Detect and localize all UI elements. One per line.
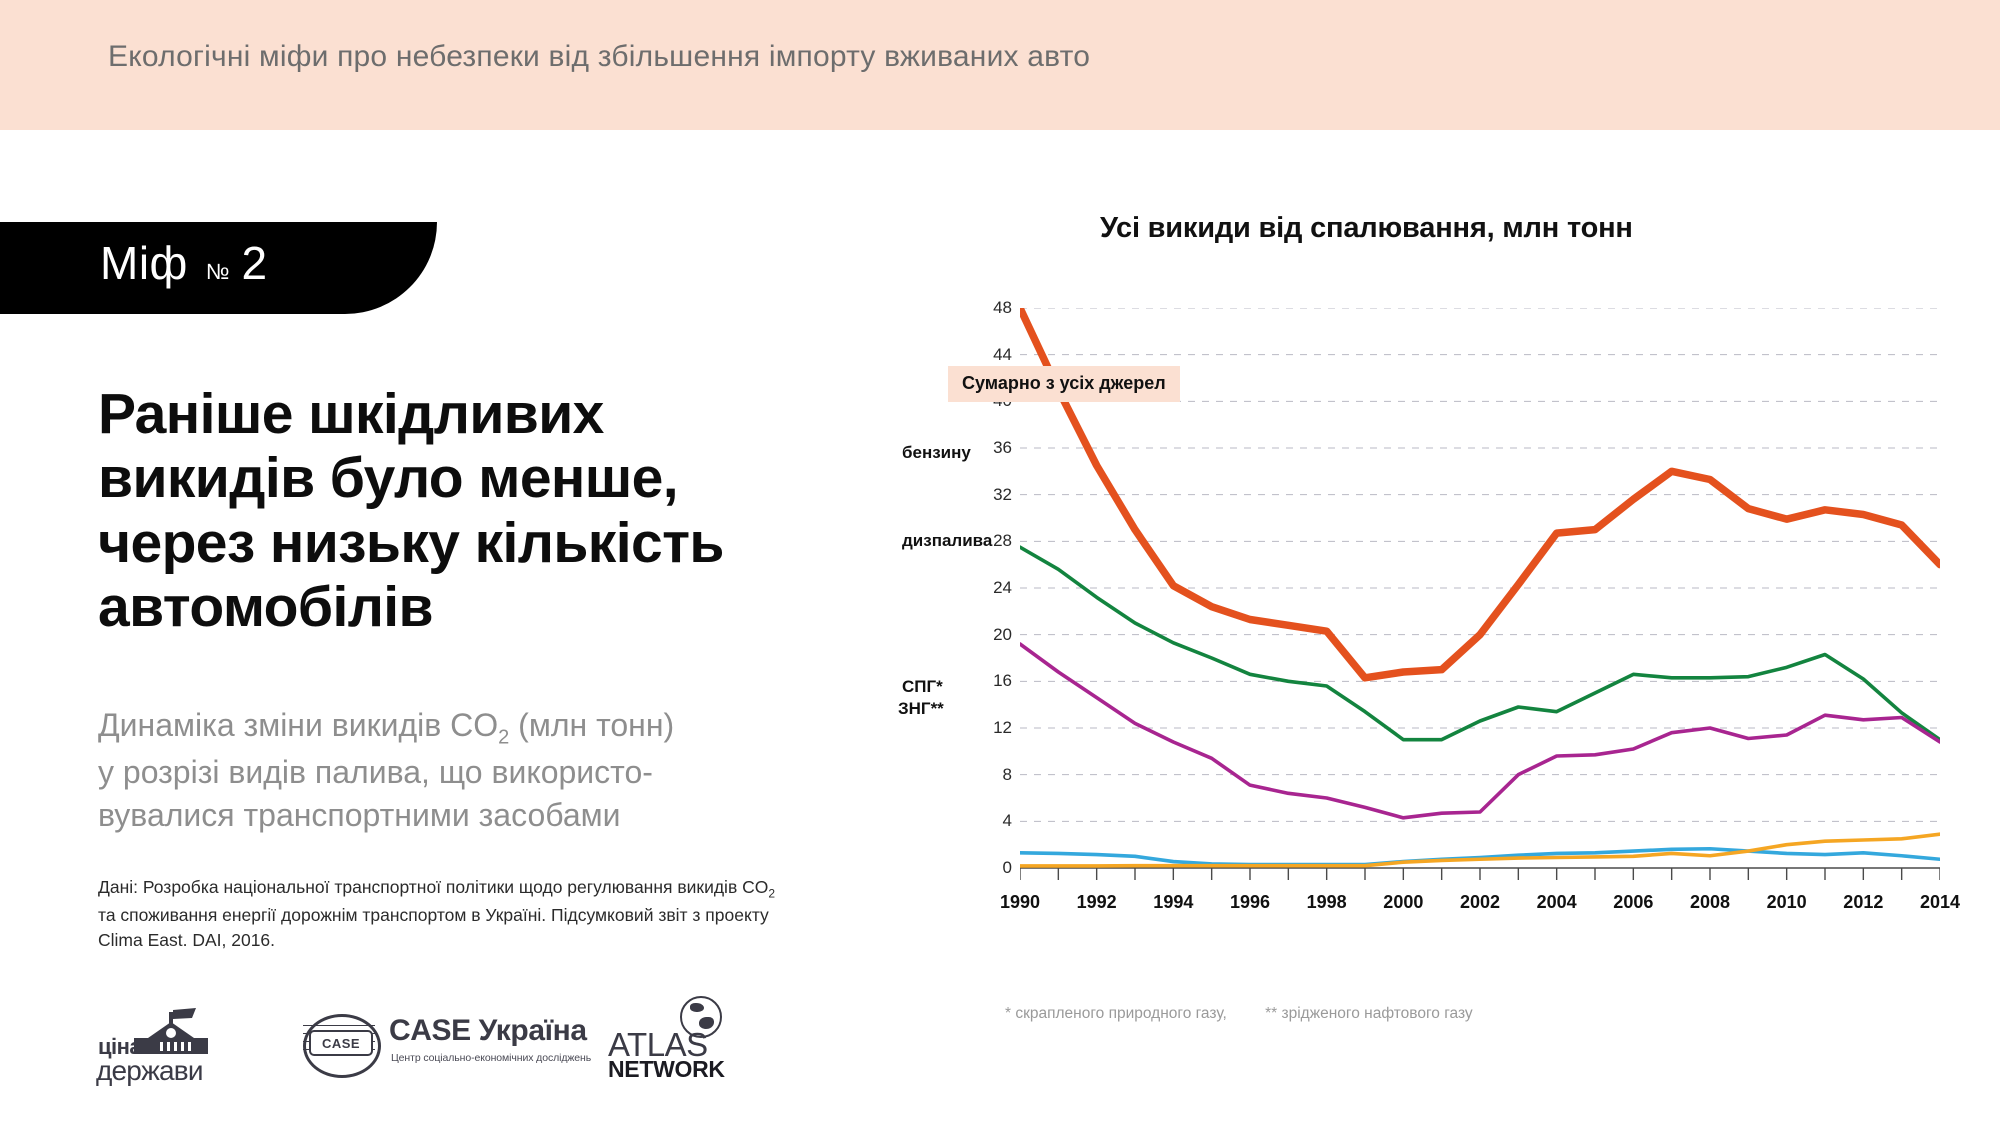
y-axis-label: 48 bbox=[966, 298, 1012, 318]
co2-subscript: 2 bbox=[498, 726, 509, 748]
y-axis-label: 24 bbox=[966, 578, 1012, 598]
myth-number: 2 bbox=[242, 236, 268, 290]
emissions-line-chart: 0481216202428323640444819901992199419961… bbox=[960, 290, 1950, 920]
x-axis-label: 1994 bbox=[1153, 892, 1193, 913]
headline-line-4: автомобілів bbox=[98, 575, 888, 639]
chart-footnotes: * скрапленого природного газу, ** зрідже… bbox=[1005, 1005, 1507, 1023]
x-axis-label: 1992 bbox=[1077, 892, 1117, 913]
source-line-3: Clima East. DAI, 2016. bbox=[98, 928, 868, 953]
source-line-1: Дані: Розробка національної транспортної… bbox=[98, 875, 868, 903]
y-axis-label: 8 bbox=[966, 765, 1012, 785]
y-axis-label: 36 bbox=[966, 438, 1012, 458]
x-axis-label: 2002 bbox=[1460, 892, 1500, 913]
subtitle-line-3: вувалися транспортними засобами bbox=[98, 794, 858, 837]
logo-atlas-line-2: NETWORK bbox=[608, 1056, 725, 1083]
page-title: Раніше шкідливих викидів було менше, чер… bbox=[98, 382, 888, 640]
logo-row: ціна держави CASE CASE Україна Центр соц… bbox=[98, 990, 738, 1095]
x-axis-label: 2012 bbox=[1843, 892, 1883, 913]
chart-title: Усі викиди від спалювання, млн тонн bbox=[1100, 212, 1633, 245]
case-mark: CASE bbox=[309, 1030, 373, 1056]
series-label-lpg: ЗНГ** bbox=[898, 699, 944, 719]
y-axis-label: 20 bbox=[966, 625, 1012, 645]
x-axis-label: 2014 bbox=[1920, 892, 1960, 913]
x-axis-label: 1990 bbox=[1000, 892, 1040, 913]
x-axis-label: 2008 bbox=[1690, 892, 1730, 913]
series-line-diesel bbox=[1020, 644, 1940, 818]
logo-tsina-line-2: держави bbox=[96, 1055, 203, 1087]
source-line-1-text: Дані: Розробка національної транспортної… bbox=[98, 877, 768, 897]
subtitle-line-1-text: Динаміка зміни викидів CO bbox=[98, 707, 498, 743]
y-axis-label: 12 bbox=[966, 718, 1012, 738]
series-label-cng: СПГ* bbox=[902, 677, 943, 697]
x-axis-label: 1998 bbox=[1307, 892, 1347, 913]
source-note: Дані: Розробка національної транспортної… bbox=[98, 875, 868, 954]
x-axis-label: 2004 bbox=[1537, 892, 1577, 913]
series-line-cng bbox=[1020, 849, 1940, 865]
series-label-diesel: дизпалива bbox=[902, 531, 992, 551]
top-banner: Екологічні міфи про небезпеки від збільш… bbox=[0, 0, 2000, 130]
y-axis-label: 4 bbox=[966, 811, 1012, 831]
logo-case-ukraine: CASE CASE Україна Центр соціально-економ… bbox=[303, 1008, 543, 1078]
footnote-lpg: ** зрідженого нафтового газу bbox=[1265, 1005, 1473, 1022]
banner-title: Екологічні міфи про небезпеки від збільш… bbox=[108, 40, 1090, 74]
myth-badge-content: Міф № 2 bbox=[100, 236, 267, 290]
source-co2-subscript: 2 bbox=[768, 887, 775, 901]
series-line-petrol bbox=[1020, 547, 1940, 740]
source-line-2: та споживання енергії дорожнім транспорт… bbox=[98, 903, 868, 928]
series-label-petrol: бензину bbox=[902, 443, 971, 463]
y-axis-label: 16 bbox=[966, 671, 1012, 691]
y-axis-label: 44 bbox=[966, 345, 1012, 365]
series-line-total bbox=[1020, 308, 1940, 678]
logo-tsina-derzhavy: ціна держави bbox=[98, 990, 233, 1090]
chart-plot-area: 0481216202428323640444819901992199419961… bbox=[1020, 308, 1940, 904]
logo-case-tagline: Центр соціально-економічних досліджень bbox=[391, 1052, 591, 1064]
y-axis-label: 32 bbox=[966, 485, 1012, 505]
subtitle-line-1: Динаміка зміни викидів CO2 (млн тонн) bbox=[98, 704, 858, 751]
x-axis-label: 2000 bbox=[1383, 892, 1423, 913]
headline-line-2: викидів було менше, bbox=[98, 446, 888, 510]
headline-line-1: Раніше шкідливих bbox=[98, 382, 888, 446]
callout-total-emissions: Сумарно з усіх джерел bbox=[948, 366, 1180, 402]
x-axis-label: 1996 bbox=[1230, 892, 1270, 913]
headline-line-3: через низьку кількість bbox=[98, 511, 888, 575]
footnote-cng: * скрапленого природного газу, bbox=[1005, 1005, 1227, 1022]
number-sign-icon: № bbox=[206, 259, 230, 285]
logo-case-name: CASE Україна bbox=[389, 1014, 587, 1048]
y-axis-label: 0 bbox=[966, 858, 1012, 878]
subtitle: Динаміка зміни викидів CO2 (млн тонн) у … bbox=[98, 704, 858, 836]
subtitle-line-1-tail: (млн тонн) bbox=[509, 707, 674, 743]
x-axis-label: 2006 bbox=[1613, 892, 1653, 913]
myth-label: Міф bbox=[100, 236, 188, 290]
logo-atlas-network: ATLAS NETWORK bbox=[608, 998, 748, 1084]
x-axis-label: 2010 bbox=[1767, 892, 1807, 913]
subtitle-line-2: у розрізі видів палива, що використо- bbox=[98, 751, 858, 794]
